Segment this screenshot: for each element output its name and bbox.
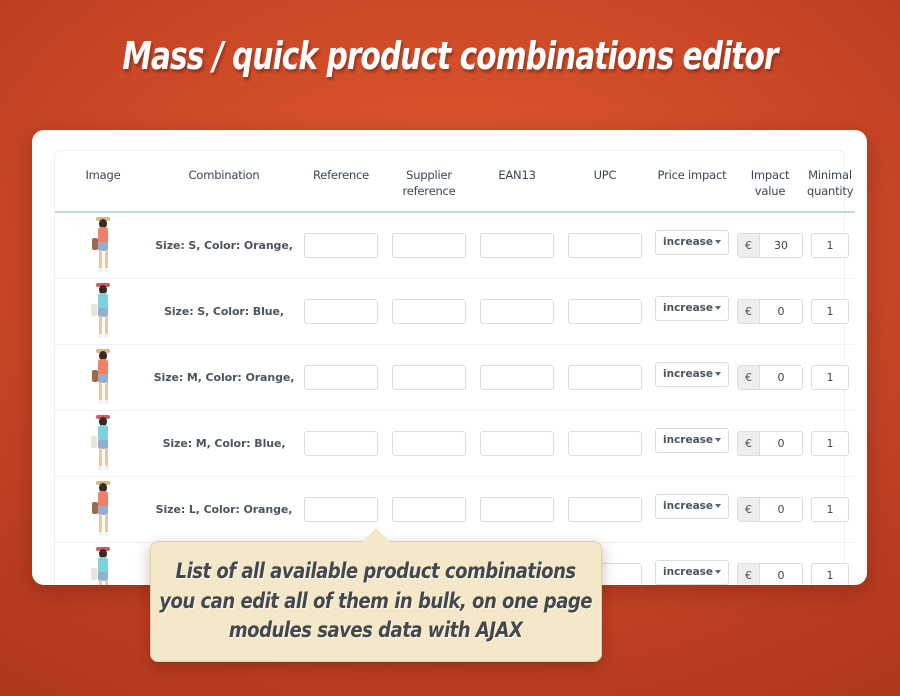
product-thumbnail-orange (86, 348, 120, 406)
combination-label: Size: M, Color: Blue, (163, 437, 286, 450)
cell-minimal-quantity (805, 212, 855, 278)
table-body: Size: S, Color: Orange,increase€Size: S,… (55, 212, 855, 585)
upc-input[interactable] (568, 299, 642, 324)
combination-label: Size: M, Color: Orange, (154, 371, 295, 384)
reference-input[interactable] (304, 431, 378, 456)
cell-image (55, 344, 151, 410)
combinations-table: Image Combination Reference Supplier ref… (55, 152, 855, 585)
impact-value-group: € (737, 233, 803, 258)
cell-ean13 (473, 344, 561, 410)
cell-impact-value: € (735, 410, 805, 476)
cell-upc (561, 410, 649, 476)
cell-supplier-reference (385, 212, 473, 278)
minimal-quantity-input[interactable] (811, 431, 849, 456)
ean13-input[interactable] (480, 497, 554, 522)
cell-price-impact: increase (649, 476, 735, 542)
price-impact-select[interactable]: increase (655, 428, 729, 453)
callout-line-1: List of all available product combinatio… (160, 557, 593, 587)
cell-supplier-reference (385, 476, 473, 542)
product-thumbnail-orange (86, 480, 120, 538)
supplier-reference-input[interactable] (392, 431, 466, 456)
currency-icon: € (738, 432, 760, 455)
upc-input[interactable] (568, 233, 642, 258)
table-header-row: Image Combination Reference Supplier ref… (55, 152, 855, 212)
chevron-down-icon (715, 570, 721, 574)
table-row: Size: M, Color: Blue,increase€ (55, 410, 855, 476)
cell-upc (561, 212, 649, 278)
cell-image (55, 278, 151, 344)
supplier-reference-input[interactable] (392, 299, 466, 324)
combination-label: Size: S, Color: Blue, (164, 305, 284, 318)
cell-price-impact: increase (649, 278, 735, 344)
impact-value-input[interactable] (760, 498, 802, 521)
column-header-upc: UPC (561, 152, 649, 212)
minimal-quantity-input[interactable] (811, 563, 849, 585)
column-header-ean13: EAN13 (473, 152, 561, 212)
combinations-card: Image Combination Reference Supplier ref… (32, 130, 867, 585)
table-row: Size: S, Color: Orange,increase€ (55, 212, 855, 278)
chevron-down-icon (715, 372, 721, 376)
cell-minimal-quantity (805, 476, 855, 542)
cell-minimal-quantity (805, 278, 855, 344)
cell-ean13 (473, 212, 561, 278)
currency-icon: € (738, 564, 760, 585)
column-header-minimal-quantity: Minimal quantity (805, 152, 855, 212)
combination-label: Size: L, Color: Orange, (156, 503, 293, 516)
table-row: Size: M, Color: Orange,increase€ (55, 344, 855, 410)
upc-input[interactable] (568, 431, 642, 456)
cell-minimal-quantity (805, 344, 855, 410)
cell-impact-value: € (735, 476, 805, 542)
cell-upc (561, 344, 649, 410)
cell-minimal-quantity (805, 410, 855, 476)
cell-combination: Size: M, Color: Orange, (151, 344, 297, 410)
cell-supplier-reference (385, 278, 473, 344)
supplier-reference-input[interactable] (392, 497, 466, 522)
impact-value-group: € (737, 431, 803, 456)
table-row: Size: S, Color: Blue,increase€ (55, 278, 855, 344)
page-title: Mass / quick product combinations editor (99, 34, 801, 78)
combination-label: Size: S, Color: Orange, (155, 239, 293, 252)
cell-reference (297, 344, 385, 410)
cell-impact-value: € (735, 344, 805, 410)
cell-impact-value: € (735, 542, 805, 585)
minimal-quantity-input[interactable] (811, 299, 849, 324)
cell-reference (297, 410, 385, 476)
minimal-quantity-input[interactable] (811, 497, 849, 522)
cell-supplier-reference (385, 344, 473, 410)
callout-line-3: modules saves data with AJAX (160, 616, 593, 646)
column-header-image: Image (55, 152, 151, 212)
table-row: Size: L, Color: Orange,increase€ (55, 476, 855, 542)
price-impact-value: increase (663, 429, 713, 452)
impact-value-group: € (737, 563, 803, 585)
cell-ean13 (473, 410, 561, 476)
ean13-input[interactable] (480, 233, 554, 258)
supplier-reference-input[interactable] (392, 365, 466, 390)
cell-upc (561, 278, 649, 344)
price-impact-value: increase (663, 297, 713, 320)
impact-value-input[interactable] (760, 234, 802, 257)
cell-ean13 (473, 278, 561, 344)
info-callout: List of all available product combinatio… (150, 541, 602, 662)
product-thumbnail-blue (86, 414, 120, 472)
cell-combination: Size: L, Color: Orange, (151, 476, 297, 542)
chevron-down-icon (715, 438, 721, 442)
supplier-reference-input[interactable] (392, 233, 466, 258)
ean13-input[interactable] (480, 365, 554, 390)
reference-input[interactable] (304, 233, 378, 258)
cell-combination: Size: S, Color: Blue, (151, 278, 297, 344)
price-impact-select[interactable]: increase (655, 230, 729, 255)
impact-value-input[interactable] (760, 366, 802, 389)
impact-value-group: € (737, 497, 803, 522)
cell-image (55, 542, 151, 585)
cell-price-impact: increase (649, 344, 735, 410)
table-header: Image Combination Reference Supplier ref… (55, 152, 855, 212)
ean13-input[interactable] (480, 431, 554, 456)
reference-input[interactable] (304, 299, 378, 324)
column-header-combination: Combination (151, 152, 297, 212)
impact-value-input[interactable] (760, 432, 802, 455)
impact-value-group: € (737, 299, 803, 324)
product-thumbnail-orange (86, 216, 120, 274)
price-impact-select[interactable]: increase (655, 362, 729, 387)
currency-icon: € (738, 498, 760, 521)
chevron-down-icon (715, 240, 721, 244)
column-header-reference: Reference (297, 152, 385, 212)
column-header-supplier-reference: Supplier reference (385, 152, 473, 212)
cell-impact-value: € (735, 212, 805, 278)
cell-image (55, 410, 151, 476)
ean13-input[interactable] (480, 299, 554, 324)
cell-price-impact: increase (649, 410, 735, 476)
currency-icon: € (738, 300, 760, 323)
reference-input[interactable] (304, 497, 378, 522)
upc-input[interactable] (568, 365, 642, 390)
cell-minimal-quantity (805, 542, 855, 585)
cell-combination: Size: S, Color: Orange, (151, 212, 297, 278)
cell-image (55, 476, 151, 542)
price-impact-select[interactable]: increase (655, 560, 729, 585)
reference-input[interactable] (304, 365, 378, 390)
product-thumbnail-blue (86, 546, 120, 585)
minimal-quantity-input[interactable] (811, 233, 849, 258)
impact-value-group: € (737, 365, 803, 390)
cell-combination: Size: M, Color: Blue, (151, 410, 297, 476)
cell-supplier-reference (385, 410, 473, 476)
price-impact-select[interactable]: increase (655, 494, 729, 519)
callout-line-2: you can edit all of them in bulk, on one… (160, 587, 593, 617)
impact-value-input[interactable] (760, 300, 802, 323)
cell-ean13 (473, 476, 561, 542)
price-impact-value: increase (663, 561, 713, 584)
impact-value-input[interactable] (760, 564, 802, 585)
price-impact-value: increase (663, 495, 713, 518)
currency-icon: € (738, 366, 760, 389)
chevron-down-icon (715, 504, 721, 508)
cell-impact-value: € (735, 278, 805, 344)
currency-icon: € (738, 234, 760, 257)
column-header-price-impact: Price impact (649, 152, 735, 212)
cell-image (55, 212, 151, 278)
product-thumbnail-blue (86, 282, 120, 340)
cell-reference (297, 278, 385, 344)
cell-price-impact: increase (649, 212, 735, 278)
callout-text: List of all available product combinatio… (160, 557, 593, 646)
upc-input[interactable] (568, 497, 642, 522)
cell-price-impact: increase (649, 542, 735, 585)
callout-pointer (361, 528, 391, 543)
chevron-down-icon (715, 306, 721, 310)
cell-reference (297, 212, 385, 278)
cell-upc (561, 476, 649, 542)
price-impact-value: increase (663, 231, 713, 254)
price-impact-value: increase (663, 363, 713, 386)
minimal-quantity-input[interactable] (811, 365, 849, 390)
price-impact-select[interactable]: increase (655, 296, 729, 321)
column-header-impact-value: Impact value (735, 152, 805, 212)
